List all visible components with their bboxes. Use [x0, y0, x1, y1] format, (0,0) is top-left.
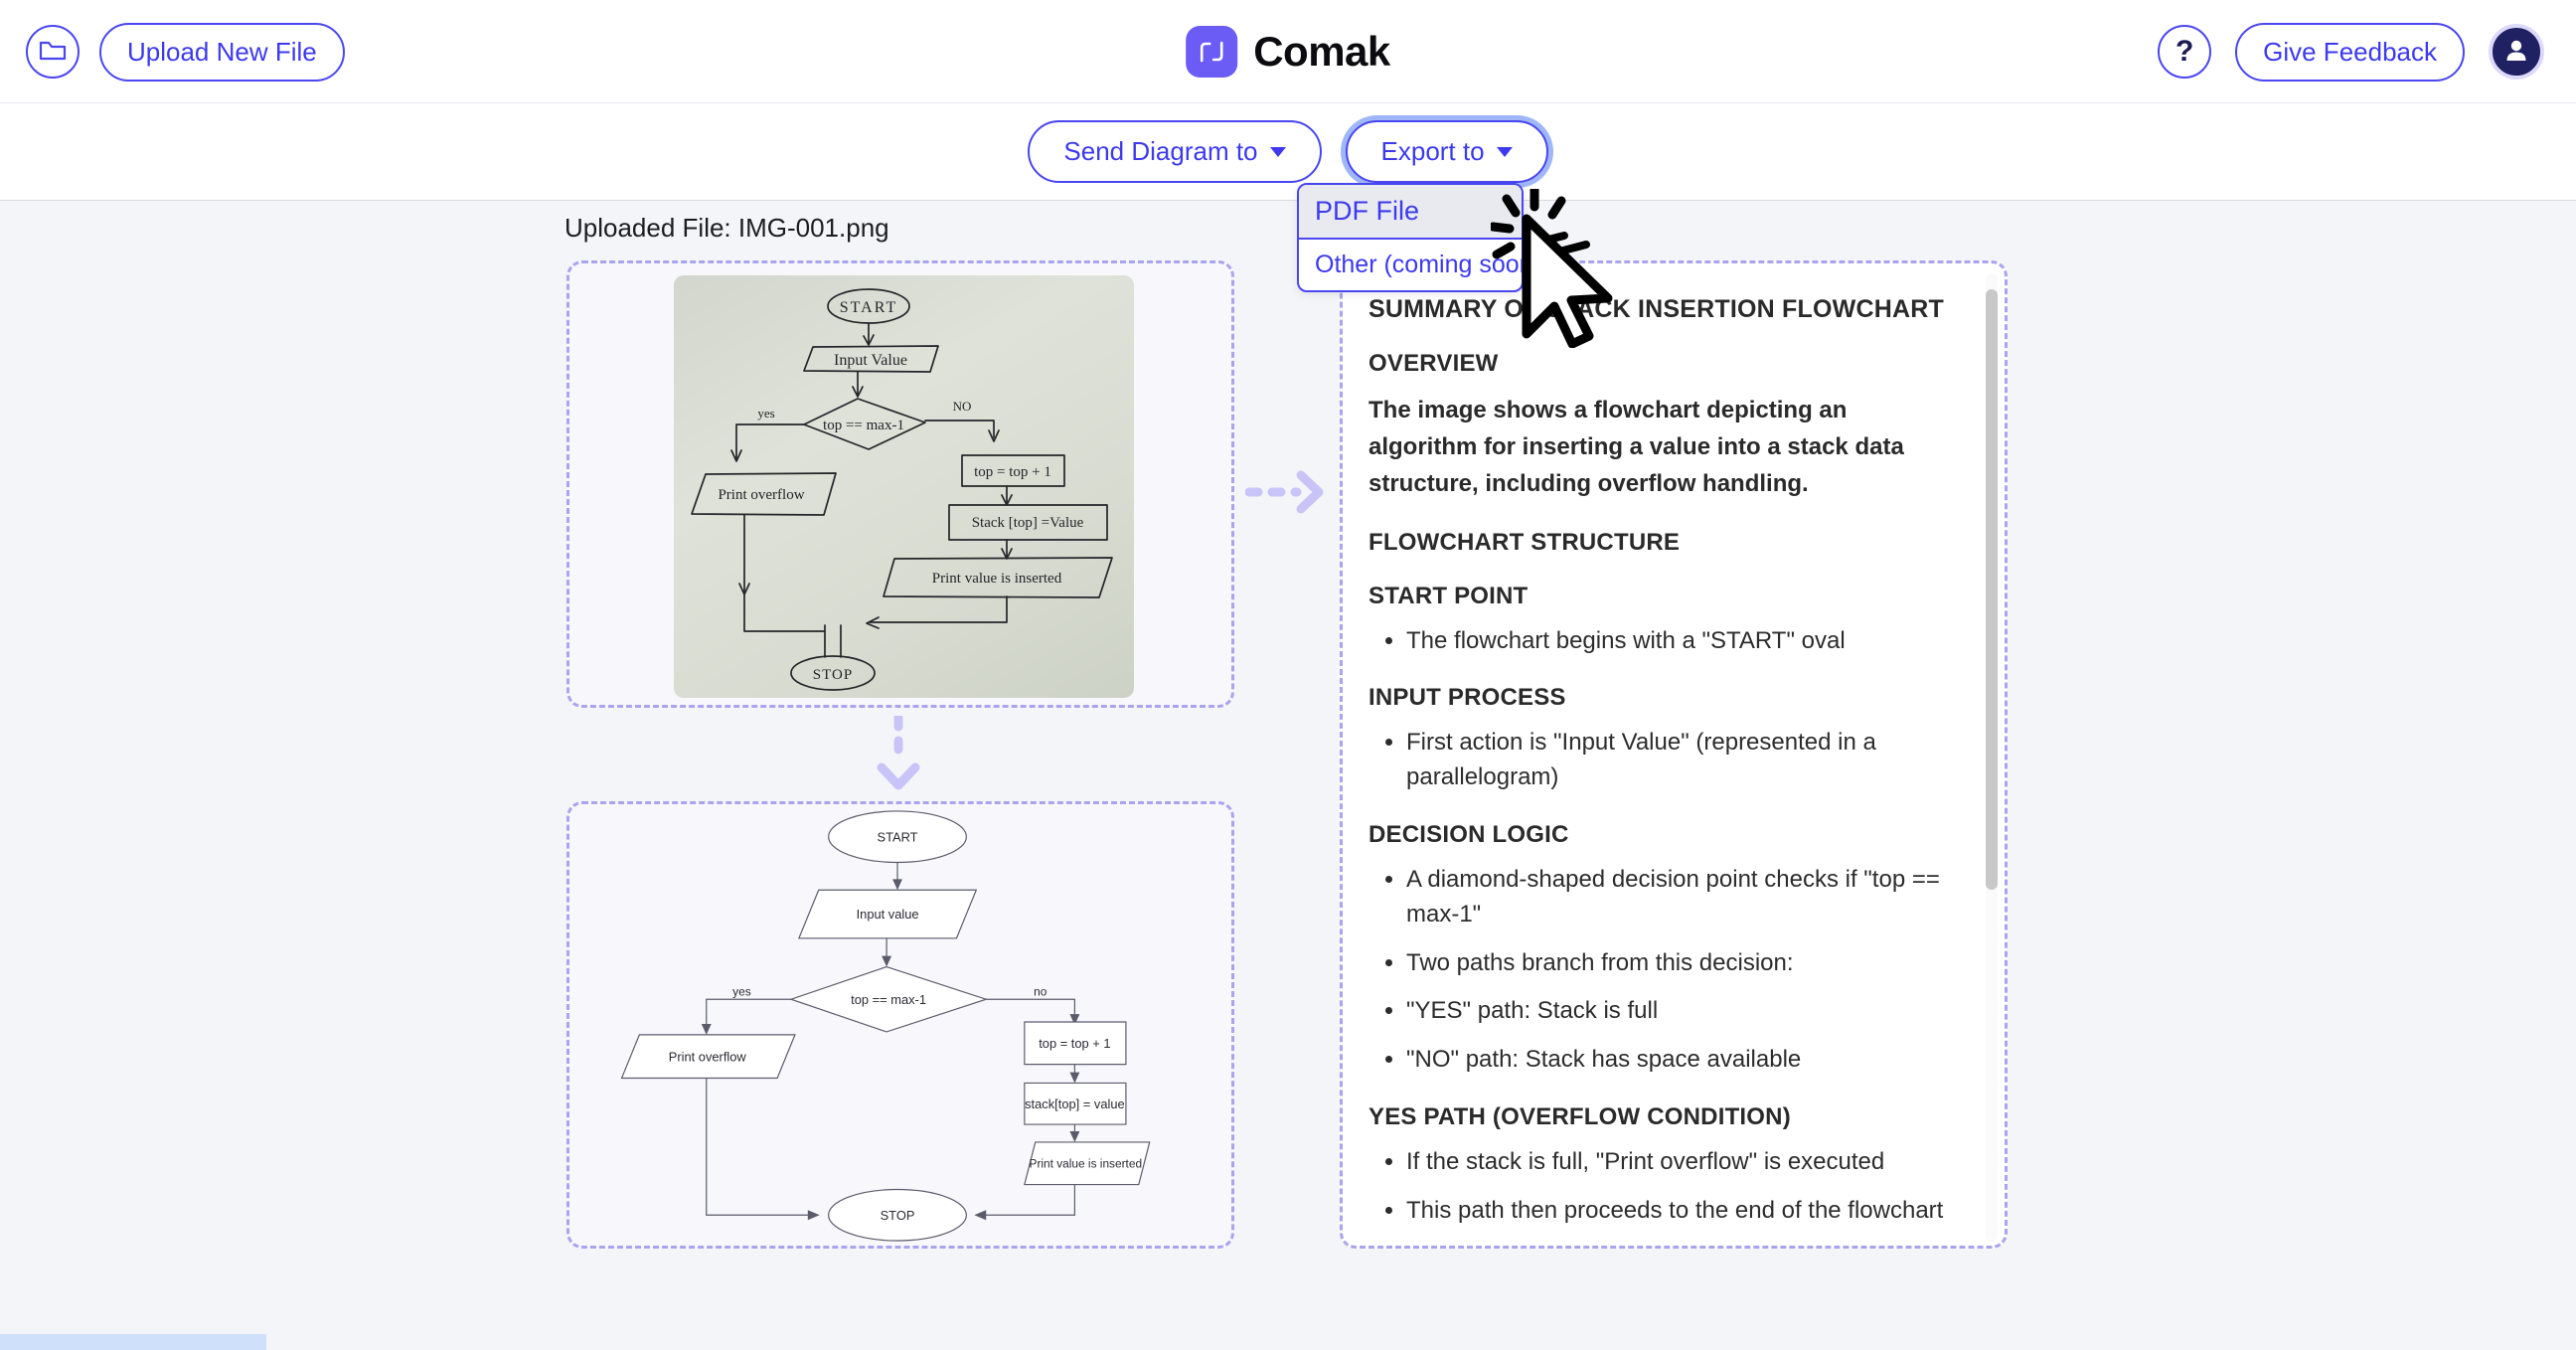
list-item: If the stack is full, "Print overflow" i… [1406, 1145, 1945, 1180]
export-to-label: Export to [1381, 136, 1485, 167]
list-item: "NO" path: Stack has space available [1406, 1043, 1945, 1078]
summary-title: SUMMARY OF STACK INSERTION FLOWCHART [1368, 295, 1945, 324]
brand-group: Comak [1186, 0, 1390, 103]
export-to-dropdown-button[interactable]: Export to [1346, 120, 1548, 183]
handwritten-flowchart: START Input Value top == max-1 Print ove… [674, 275, 1134, 698]
summary-heading-input-process: INPUT PROCESS [1368, 684, 1945, 712]
generated-flowchart: START Input value top == max-1 Print ove… [569, 804, 1231, 1248]
node-inserted: Print value is inserted [1030, 1157, 1143, 1171]
app-header: Upload New File Comak ? Give Feedback [0, 0, 2576, 103]
action-toolbar: Send Diagram to Export to [0, 103, 2576, 201]
comak-logo-icon [1186, 26, 1237, 78]
send-diagram-to-label: Send Diagram to [1063, 136, 1257, 167]
hw-node-inserted: Print value is inserted [932, 571, 1062, 587]
summary-list-input-process: First action is "Input Value" (represent… [1368, 726, 1945, 795]
hw-edge-yes: yes [757, 406, 774, 421]
list-item: The flowchart begins with a "START" oval [1406, 624, 1945, 659]
menu-item-pdf-file[interactable]: PDF File [1299, 185, 1522, 240]
edge-label-yes: yes [732, 984, 751, 998]
list-item: This path then proceeds to the end of th… [1406, 1194, 1945, 1229]
send-diagram-to-dropdown-button[interactable]: Send Diagram to [1028, 120, 1321, 183]
list-item: A diamond-shaped decision point checks i… [1406, 863, 1945, 932]
hw-node-start: START [840, 299, 897, 316]
summary-heading-decision-logic: DECISION LOGIC [1368, 821, 1945, 849]
upload-new-file-button[interactable]: Upload New File [99, 23, 345, 82]
folder-button[interactable] [26, 25, 80, 79]
node-increment: top = top + 1 [1039, 1036, 1110, 1051]
summary-scrollbar-thumb[interactable] [1986, 289, 1998, 890]
summary-scroll-region: SUMMARY OF STACK INSERTION FLOWCHART OVE… [1368, 285, 1985, 1230]
header-right-group: ? Give Feedback [2158, 0, 2544, 103]
hw-node-stop: STOP [813, 667, 853, 683]
summary-panel[interactable]: SUMMARY OF STACK INSERTION FLOWCHART OVE… [1340, 260, 2008, 1249]
chevron-down-icon [1270, 147, 1286, 157]
summary-heading-start-point: START POINT [1368, 583, 1945, 610]
user-avatar-icon [2501, 35, 2531, 70]
hw-node-decision: top == max-1 [823, 418, 904, 433]
list-item: First action is "Input Value" (represent… [1406, 726, 1945, 795]
summary-heading-flowchart-structure: FLOWCHART STRUCTURE [1368, 529, 1945, 557]
menu-item-other[interactable]: Other (coming soon) [1299, 240, 1522, 290]
original-image-panel[interactable]: START Input Value top == max-1 Print ove… [566, 260, 1234, 708]
hw-node-increment: top = top + 1 [974, 464, 1051, 480]
hw-edge-no: NO [953, 399, 972, 414]
node-start: START [878, 830, 918, 845]
horizontal-scrollbar-thumb[interactable] [0, 1334, 266, 1350]
summary-content: SUMMARY OF STACK INSERTION FLOWCHART OVE… [1368, 295, 1945, 1230]
chevron-down-icon [1497, 147, 1513, 157]
summary-paragraph-overview: The image shows a flowchart depicting an… [1368, 392, 1945, 503]
main-content [0, 201, 2576, 1330]
edge-label-no: no [1034, 984, 1047, 998]
summary-list-decision-logic: A diamond-shaped decision point checks i… [1368, 863, 1945, 1078]
folder-icon [39, 38, 67, 67]
node-stop: STOP [881, 1208, 915, 1223]
uploaded-photo: START Input Value top == max-1 Print ove… [674, 275, 1134, 698]
summary-list-start-point: The flowchart begins with a "START" oval [1368, 624, 1945, 659]
dashed-arrow-down-icon [870, 716, 927, 795]
summary-heading-yes-path: YES PATH (OVERFLOW CONDITION) [1368, 1103, 1945, 1131]
list-item: "YES" path: Stack is full [1406, 994, 1945, 1029]
help-button[interactable]: ? [2158, 25, 2211, 79]
hw-node-overflow: Print overflow [718, 487, 804, 503]
summary-heading-overview: OVERVIEW [1368, 350, 1945, 378]
generated-diagram-panel[interactable]: START Input value top == max-1 Print ove… [566, 801, 1234, 1249]
export-to-dropdown-menu: PDF File Other (coming soon) [1297, 183, 1524, 292]
header-left-group: Upload New File [26, 0, 345, 103]
summary-list-yes-path: If the stack is full, "Print overflow" i… [1368, 1145, 1945, 1229]
give-feedback-button[interactable]: Give Feedback [2235, 23, 2465, 82]
uploaded-file-label: Uploaded File: IMG-001.png [564, 213, 889, 244]
hw-node-input: Input Value [834, 352, 907, 369]
dashed-arrow-right-icon [1245, 463, 1329, 521]
list-item: Two paths branch from this decision: [1406, 946, 1945, 981]
avatar[interactable] [2489, 24, 2544, 80]
node-input: Input value [857, 907, 919, 922]
hw-node-assign: Stack [top] =Value [972, 515, 1084, 531]
node-overflow: Print overflow [669, 1050, 747, 1065]
node-decision: top == max-1 [851, 992, 926, 1007]
app-title: Comak [1253, 28, 1390, 76]
node-assign: stack[top] = value [1025, 1097, 1125, 1111]
